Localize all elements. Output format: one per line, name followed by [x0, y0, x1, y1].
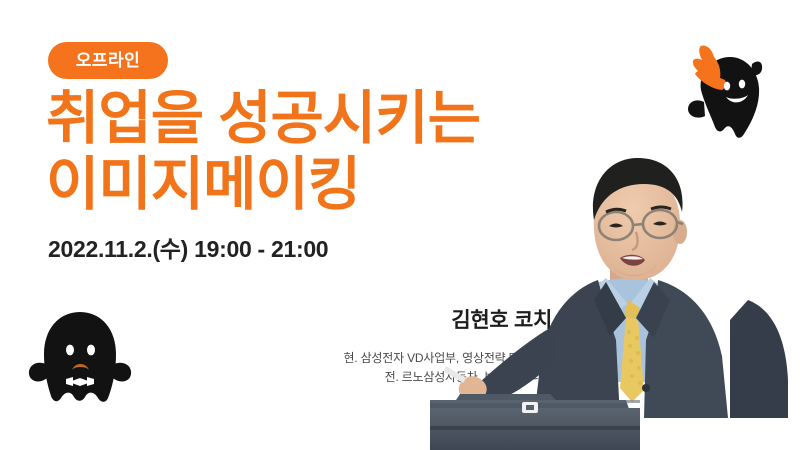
jacket-button — [642, 384, 650, 392]
ghost-with-teeth-icon — [28, 306, 132, 406]
ghost-with-witch-hat-icon — [668, 44, 772, 140]
offline-badge-label: 오프라인 — [76, 52, 141, 69]
event-schedule: 2022.11.2.(수) 19:00 - 21:00 — [48, 230, 328, 264]
title-line-1: 취업을 성공시키는 — [46, 86, 516, 152]
presenter-right-sleeve — [730, 300, 788, 418]
presenter-photo — [430, 150, 800, 450]
offline-badge: 오프라인 — [48, 42, 168, 79]
event-poster: 오프라인 취업을 성공시키는 이미지메이킹 2022.11.2.(수) 19:0… — [0, 0, 800, 450]
